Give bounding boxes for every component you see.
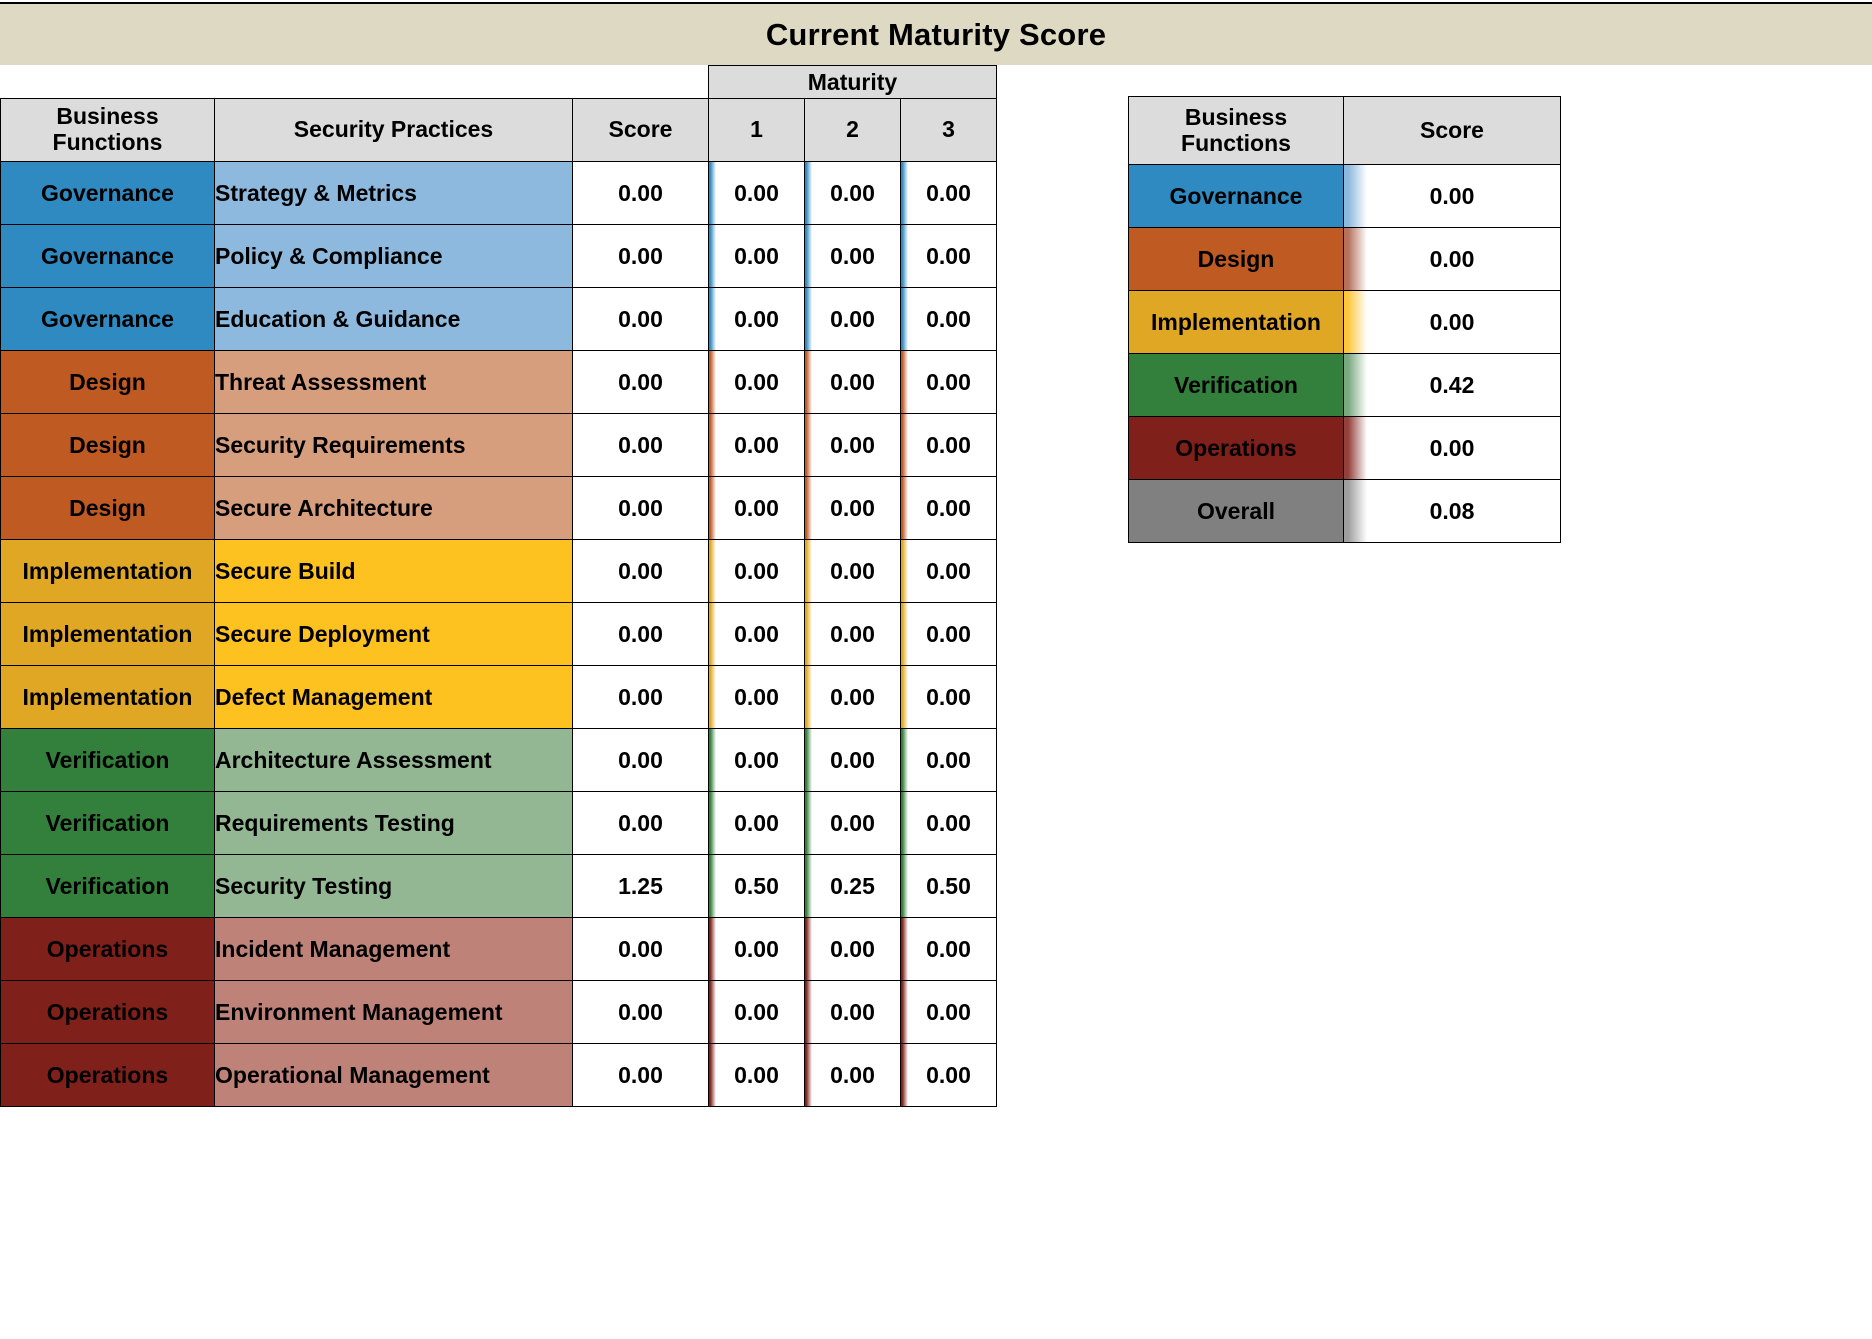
- business-function-cell: Implementation: [1, 666, 215, 729]
- maturity-level-1-cell: 0.00: [709, 729, 805, 792]
- practice-score-cell: 0.00: [573, 918, 709, 981]
- security-practice-cell: Environment Management: [215, 981, 573, 1044]
- maturity-level-3-cell: 0.00: [901, 225, 997, 288]
- maturity-level-3-cell: 0.00: [901, 981, 997, 1044]
- security-practice-cell: Threat Assessment: [215, 351, 573, 414]
- header-score: Score: [573, 99, 709, 162]
- maturity-value: 0.00: [901, 666, 996, 728]
- maturity-value: 0.00: [901, 981, 996, 1043]
- summary-table-head: BusinessFunctions Score: [1129, 97, 1561, 165]
- table-row: DesignSecurity Requirements0.000.000.000…: [1, 414, 997, 477]
- practice-score-cell: 0.00: [573, 477, 709, 540]
- summary-business-function-cell: Verification: [1129, 354, 1344, 417]
- maturity-value: 0.00: [805, 918, 900, 980]
- security-practice-cell: Secure Architecture: [215, 477, 573, 540]
- business-function-cell: Implementation: [1, 540, 215, 603]
- summary-score-value: 0.00: [1344, 165, 1560, 227]
- maturity-level-2-cell: 0.00: [805, 414, 901, 477]
- table-row: GovernanceEducation & Guidance0.000.000.…: [1, 288, 997, 351]
- summary-score-cell: 0.00: [1344, 228, 1561, 291]
- security-practice-cell: Policy & Compliance: [215, 225, 573, 288]
- summary-score-value: 0.42: [1344, 354, 1560, 416]
- summary-score-cell: 0.08: [1344, 480, 1561, 543]
- table-row: ImplementationSecure Build0.000.000.000.…: [1, 540, 997, 603]
- spacer-cell-score: [573, 66, 709, 99]
- practice-score-cell: 0.00: [573, 1044, 709, 1107]
- table-row: OperationsIncident Management0.000.000.0…: [1, 918, 997, 981]
- table-row: VerificationArchitecture Assessment0.000…: [1, 729, 997, 792]
- summary-score-cell: 0.00: [1344, 165, 1561, 228]
- maturity-value: 0.00: [709, 918, 804, 980]
- security-practice-cell: Secure Build: [215, 540, 573, 603]
- maturity-level-2-cell: 0.00: [805, 477, 901, 540]
- maturity-value: 0.00: [709, 540, 804, 602]
- maturity-value: 0.50: [709, 855, 804, 917]
- business-function-cell: Verification: [1, 729, 215, 792]
- summary-score-cell: 0.42: [1344, 354, 1561, 417]
- business-function-cell: Governance: [1, 225, 215, 288]
- header-row: BusinessFunctions Security Practices Sco…: [1, 99, 997, 162]
- maturity-level-2-cell: 0.00: [805, 540, 901, 603]
- security-practice-cell: Architecture Assessment: [215, 729, 573, 792]
- maturity-scorecard-page: Current Maturity Score Maturity Business…: [0, 0, 1872, 1339]
- summary-business-function-cell: Design: [1129, 228, 1344, 291]
- maturity-level-3-cell: 0.00: [901, 540, 997, 603]
- table-row: ImplementationDefect Management0.000.000…: [1, 666, 997, 729]
- maturity-value: 0.50: [901, 855, 996, 917]
- maturity-level-1-cell: 0.00: [709, 918, 805, 981]
- maturity-level-1-cell: 0.00: [709, 477, 805, 540]
- table-row: VerificationSecurity Testing1.250.500.25…: [1, 855, 997, 918]
- summary-table-row: Overall0.08: [1129, 480, 1561, 543]
- business-function-cell: Operations: [1, 918, 215, 981]
- maturity-level-1-cell: 0.00: [709, 1044, 805, 1107]
- summary-business-function-cell: Governance: [1129, 165, 1344, 228]
- business-function-summary-table: BusinessFunctions Score Governance0.00De…: [1128, 96, 1561, 543]
- security-practice-cell: Incident Management: [215, 918, 573, 981]
- summary-table-row: Design0.00: [1129, 228, 1561, 291]
- maturity-level-3-cell: 0.00: [901, 603, 997, 666]
- business-function-cell: Governance: [1, 288, 215, 351]
- security-practice-cell: Requirements Testing: [215, 792, 573, 855]
- summary-table-row: Verification0.42: [1129, 354, 1561, 417]
- table-row: DesignSecure Architecture0.000.000.000.0…: [1, 477, 997, 540]
- maturity-value: 0.00: [805, 1044, 900, 1106]
- maturity-value: 0.00: [709, 981, 804, 1043]
- maturity-level-2-cell: 0.00: [805, 288, 901, 351]
- maturity-level-2-cell: 0.00: [805, 225, 901, 288]
- maturity-level-3-cell: 0.50: [901, 855, 997, 918]
- maturity-value: 0.00: [901, 603, 996, 665]
- maturity-level-3-cell: 0.00: [901, 162, 997, 225]
- spacer-cell-functions: [1, 66, 215, 99]
- maturity-level-2-cell: 0.00: [805, 351, 901, 414]
- security-practice-cell: Defect Management: [215, 666, 573, 729]
- maturity-value: 0.00: [805, 225, 900, 287]
- maturity-level-3-cell: 0.00: [901, 288, 997, 351]
- maturity-level-1-cell: 0.00: [709, 792, 805, 855]
- maturity-value: 0.00: [805, 981, 900, 1043]
- maturity-level-3-cell: 0.00: [901, 729, 997, 792]
- table-row: OperationsEnvironment Management0.000.00…: [1, 981, 997, 1044]
- maturity-value: 0.00: [901, 1044, 996, 1106]
- maturity-level-1-cell: 0.00: [709, 162, 805, 225]
- maturity-level-3-cell: 0.00: [901, 414, 997, 477]
- summary-business-function-cell: Operations: [1129, 417, 1344, 480]
- practice-score-cell: 1.25: [573, 855, 709, 918]
- header-maturity-1: 1: [709, 99, 805, 162]
- table-row: GovernancePolicy & Compliance0.000.000.0…: [1, 225, 997, 288]
- practice-score-cell: 0.00: [573, 603, 709, 666]
- maturity-level-2-cell: 0.00: [805, 729, 901, 792]
- maturity-value: 0.00: [805, 666, 900, 728]
- summary-table-row: Implementation0.00: [1129, 291, 1561, 354]
- practice-score-cell: 0.00: [573, 225, 709, 288]
- header-maturity-2: 2: [805, 99, 901, 162]
- maturity-level-1-cell: 0.50: [709, 855, 805, 918]
- maturity-value: 0.00: [709, 414, 804, 476]
- practice-score-cell: 0.00: [573, 729, 709, 792]
- maturity-detail-table: Maturity BusinessFunctions Security Prac…: [0, 65, 997, 1107]
- maturity-value: 0.00: [709, 225, 804, 287]
- maturity-value: 0.00: [805, 540, 900, 602]
- security-practice-cell: Security Testing: [215, 855, 573, 918]
- maturity-level-2-cell: 0.00: [805, 162, 901, 225]
- summary-score-value: 0.00: [1344, 417, 1560, 479]
- summary-header-row: BusinessFunctions Score: [1129, 97, 1561, 165]
- maturity-value: 0.00: [805, 729, 900, 791]
- maturity-level-3-cell: 0.00: [901, 666, 997, 729]
- maturity-value: 0.00: [805, 288, 900, 350]
- practice-score-cell: 0.00: [573, 792, 709, 855]
- maturity-value: 0.00: [709, 162, 804, 224]
- maturity-band-row: Maturity: [1, 66, 997, 99]
- maturity-level-1-cell: 0.00: [709, 981, 805, 1044]
- maturity-group-header: Maturity: [709, 66, 997, 99]
- page-title-bar: Current Maturity Score: [0, 2, 1872, 65]
- maturity-value: 0.00: [901, 351, 996, 413]
- business-function-cell: Design: [1, 351, 215, 414]
- maturity-level-3-cell: 0.00: [901, 351, 997, 414]
- business-function-cell: Verification: [1, 792, 215, 855]
- maturity-value: 0.00: [805, 477, 900, 539]
- maturity-value: 0.00: [901, 414, 996, 476]
- maturity-value: 0.00: [709, 792, 804, 854]
- maturity-level-1-cell: 0.00: [709, 666, 805, 729]
- maturity-level-1-cell: 0.00: [709, 414, 805, 477]
- summary-score-value: 0.00: [1344, 291, 1560, 353]
- maturity-value: 0.00: [901, 225, 996, 287]
- table-row: DesignThreat Assessment0.000.000.000.00: [1, 351, 997, 414]
- maturity-value: 0.00: [709, 477, 804, 539]
- maturity-level-2-cell: 0.25: [805, 855, 901, 918]
- security-practice-cell: Education & Guidance: [215, 288, 573, 351]
- maturity-value: 0.00: [709, 351, 804, 413]
- summary-business-function-cell: Overall: [1129, 480, 1344, 543]
- summary-table-row: Operations0.00: [1129, 417, 1561, 480]
- maturity-value: 0.00: [709, 666, 804, 728]
- maturity-level-2-cell: 0.00: [805, 981, 901, 1044]
- maturity-level-3-cell: 0.00: [901, 918, 997, 981]
- header-business-functions: BusinessFunctions: [1, 99, 215, 162]
- table-head: Maturity BusinessFunctions Security Prac…: [1, 66, 997, 162]
- table-row: OperationsOperational Management0.000.00…: [1, 1044, 997, 1107]
- maturity-value: 0.00: [709, 603, 804, 665]
- business-function-cell: Operations: [1, 981, 215, 1044]
- maturity-level-2-cell: 0.00: [805, 918, 901, 981]
- maturity-level-1-cell: 0.00: [709, 540, 805, 603]
- header-security-practices: Security Practices: [215, 99, 573, 162]
- security-practice-cell: Operational Management: [215, 1044, 573, 1107]
- maturity-level-3-cell: 0.00: [901, 1044, 997, 1107]
- maturity-value: 0.00: [901, 288, 996, 350]
- maturity-value: 0.00: [901, 792, 996, 854]
- summary-table-row: Governance0.00: [1129, 165, 1561, 228]
- maturity-value: 0.25: [805, 855, 900, 917]
- practice-score-cell: 0.00: [573, 414, 709, 477]
- maturity-level-3-cell: 0.00: [901, 792, 997, 855]
- summary-score-cell: 0.00: [1344, 417, 1561, 480]
- business-function-cell: Operations: [1, 1044, 215, 1107]
- business-function-cell: Governance: [1, 162, 215, 225]
- business-function-cell: Design: [1, 414, 215, 477]
- business-function-cell: Implementation: [1, 603, 215, 666]
- practice-score-cell: 0.00: [573, 666, 709, 729]
- maturity-level-2-cell: 0.00: [805, 792, 901, 855]
- maturity-value: 0.00: [901, 162, 996, 224]
- maturity-value: 0.00: [901, 477, 996, 539]
- business-function-cell: Verification: [1, 855, 215, 918]
- maturity-value: 0.00: [805, 351, 900, 413]
- maturity-level-1-cell: 0.00: [709, 225, 805, 288]
- maturity-value: 0.00: [901, 540, 996, 602]
- maturity-level-2-cell: 0.00: [805, 1044, 901, 1107]
- maturity-value: 0.00: [901, 729, 996, 791]
- maturity-level-3-cell: 0.00: [901, 477, 997, 540]
- table-row: GovernanceStrategy & Metrics0.000.000.00…: [1, 162, 997, 225]
- spacer-cell-practices: [215, 66, 573, 99]
- practice-score-cell: 0.00: [573, 351, 709, 414]
- practice-score-cell: 0.00: [573, 981, 709, 1044]
- header-maturity-3: 3: [901, 99, 997, 162]
- table-body: GovernanceStrategy & Metrics0.000.000.00…: [1, 162, 997, 1107]
- summary-business-function-cell: Implementation: [1129, 291, 1344, 354]
- business-function-cell: Design: [1, 477, 215, 540]
- table-row: ImplementationSecure Deployment0.000.000…: [1, 603, 997, 666]
- maturity-value: 0.00: [709, 1044, 804, 1106]
- maturity-value: 0.00: [805, 792, 900, 854]
- summary-score-value: 0.00: [1344, 228, 1560, 290]
- security-practice-cell: Strategy & Metrics: [215, 162, 573, 225]
- maturity-value: 0.00: [805, 414, 900, 476]
- maturity-value: 0.00: [805, 603, 900, 665]
- summary-score-cell: 0.00: [1344, 291, 1561, 354]
- summary-score-value: 0.08: [1344, 480, 1560, 542]
- maturity-level-2-cell: 0.00: [805, 666, 901, 729]
- security-practice-cell: Secure Deployment: [215, 603, 573, 666]
- security-practice-cell: Security Requirements: [215, 414, 573, 477]
- maturity-value: 0.00: [709, 288, 804, 350]
- practice-score-cell: 0.00: [573, 288, 709, 351]
- maturity-level-1-cell: 0.00: [709, 288, 805, 351]
- maturity-value: 0.00: [901, 918, 996, 980]
- maturity-level-1-cell: 0.00: [709, 351, 805, 414]
- summary-header-score: Score: [1344, 97, 1561, 165]
- maturity-level-2-cell: 0.00: [805, 603, 901, 666]
- practice-score-cell: 0.00: [573, 540, 709, 603]
- maturity-value: 0.00: [709, 729, 804, 791]
- maturity-value: 0.00: [805, 162, 900, 224]
- practice-score-cell: 0.00: [573, 162, 709, 225]
- summary-header-business-functions: BusinessFunctions: [1129, 97, 1344, 165]
- maturity-level-1-cell: 0.00: [709, 603, 805, 666]
- summary-table-body: Governance0.00Design0.00Implementation0.…: [1129, 165, 1561, 543]
- table-row: VerificationRequirements Testing0.000.00…: [1, 792, 997, 855]
- page-title: Current Maturity Score: [766, 17, 1106, 53]
